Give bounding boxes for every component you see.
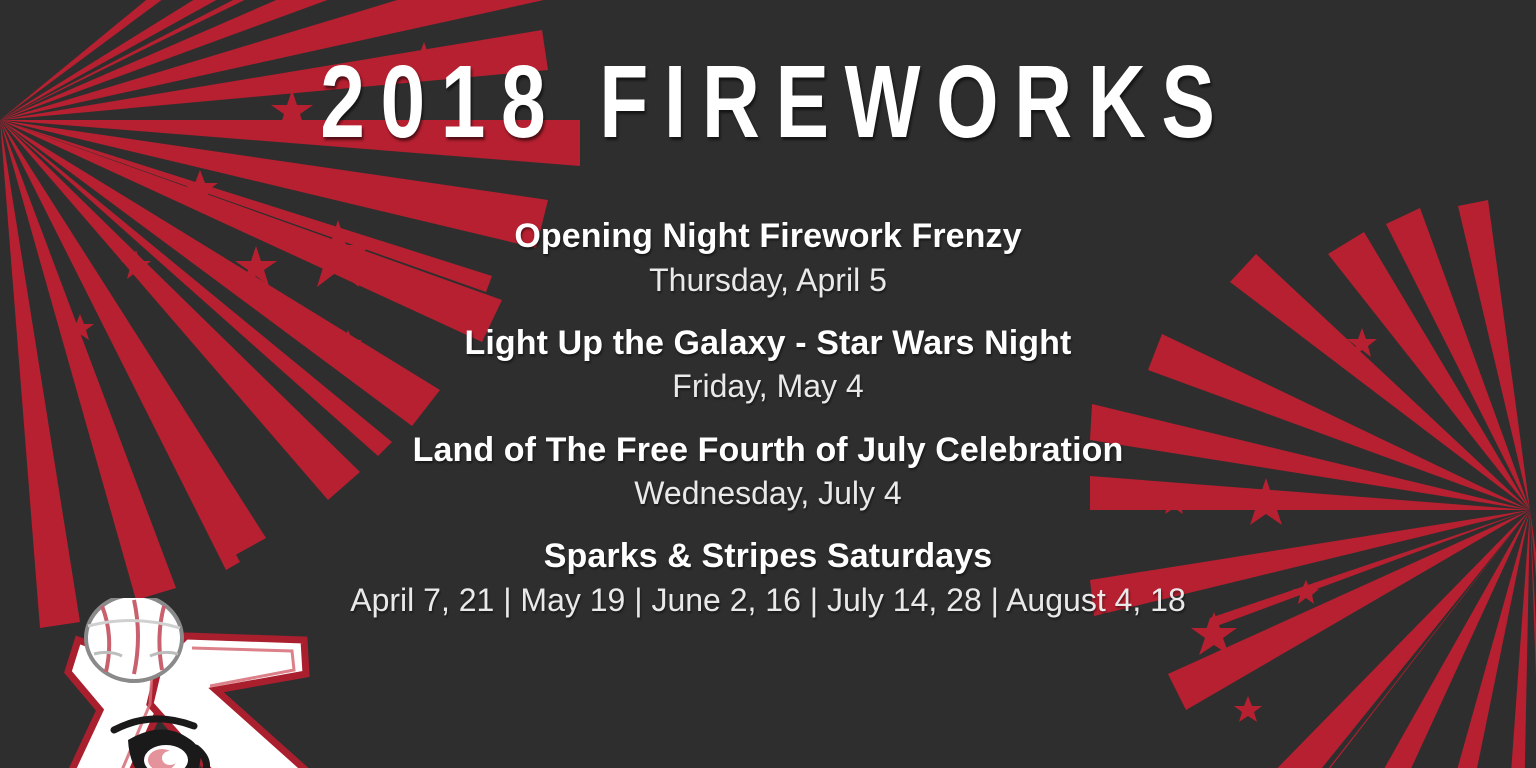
list-item: Opening Night Firework Frenzy Thursday, …: [0, 215, 1536, 301]
list-item: Land of The Free Fourth of July Celebrat…: [0, 429, 1536, 515]
poster-title-row: 2018 FIREWORKS: [0, 50, 1536, 153]
event-date: Thursday, April 5: [0, 259, 1536, 301]
list-item: Light Up the Galaxy - Star Wars Night Fr…: [0, 322, 1536, 408]
event-date: Friday, May 4: [0, 365, 1536, 407]
page-title: 2018 FIREWORKS: [305, 50, 1231, 153]
event-date: Wednesday, July 4: [0, 472, 1536, 514]
team-mascot-logo: [10, 598, 310, 768]
event-name: Sparks & Stripes Saturdays: [0, 535, 1536, 579]
event-name: Opening Night Firework Frenzy: [0, 215, 1536, 259]
fireworks-poster: 2018 FIREWORKS Opening Night Firework Fr…: [0, 0, 1536, 768]
event-list: Opening Night Firework Frenzy Thursday, …: [0, 215, 1536, 642]
event-name: Light Up the Galaxy - Star Wars Night: [0, 322, 1536, 366]
event-name: Land of The Free Fourth of July Celebrat…: [0, 429, 1536, 473]
